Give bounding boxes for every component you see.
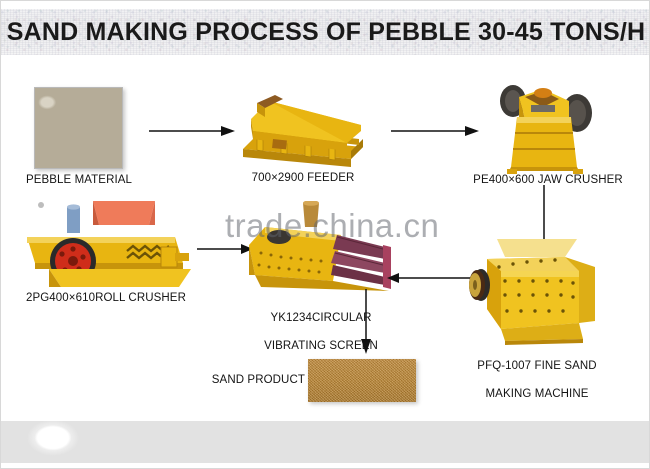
sand-product-label: SAND PRODUCT xyxy=(197,373,305,387)
pebble-material-label: PEBBLE MATERIAL xyxy=(9,173,149,187)
fine-sand-maker-label-line1: PFQ-1007 FINE SAND xyxy=(477,360,596,372)
title-banner: SAND MAKING PROCESS OF PEBBLE 30-45 TONS… xyxy=(1,9,650,55)
roll-crusher-machine-image xyxy=(15,197,201,293)
arrow-pebble-to-feeder xyxy=(147,121,237,141)
arrow-fine-sand-maker-to-vibrating-screen xyxy=(387,268,471,288)
pebble-material-image xyxy=(34,87,123,169)
bottom-pebble-border xyxy=(1,421,650,463)
roll-crusher-label: 2PG400×610ROLL CRUSHER xyxy=(11,291,201,305)
fine-sand-maker-machine-image xyxy=(461,237,611,345)
fine-sand-maker-label: PFQ-1007 FINE SAND MAKING MACHINE xyxy=(457,345,617,401)
arrow-feeder-to-jaw-crusher xyxy=(389,121,481,141)
sand-product-image xyxy=(308,359,416,402)
arrow-jaw-crusher-to-fine-sand-maker xyxy=(539,185,549,245)
feeder-machine-image xyxy=(233,81,373,173)
jaw-crusher-machine-image xyxy=(485,79,605,175)
fine-sand-maker-label-line2: MAKING MACHINE xyxy=(486,388,589,400)
vibrating-screen-machine-image xyxy=(245,201,397,297)
feeder-label: 700×2900 FEEDER xyxy=(233,171,373,185)
page-title: SAND MAKING PROCESS OF PEBBLE 30-45 TONS… xyxy=(7,18,646,47)
process-flow-diagram: SAND MAKING PROCESS OF PEBBLE 30-45 TONS… xyxy=(0,0,650,469)
arrow-vibrating-screen-to-sand-product xyxy=(356,289,376,355)
